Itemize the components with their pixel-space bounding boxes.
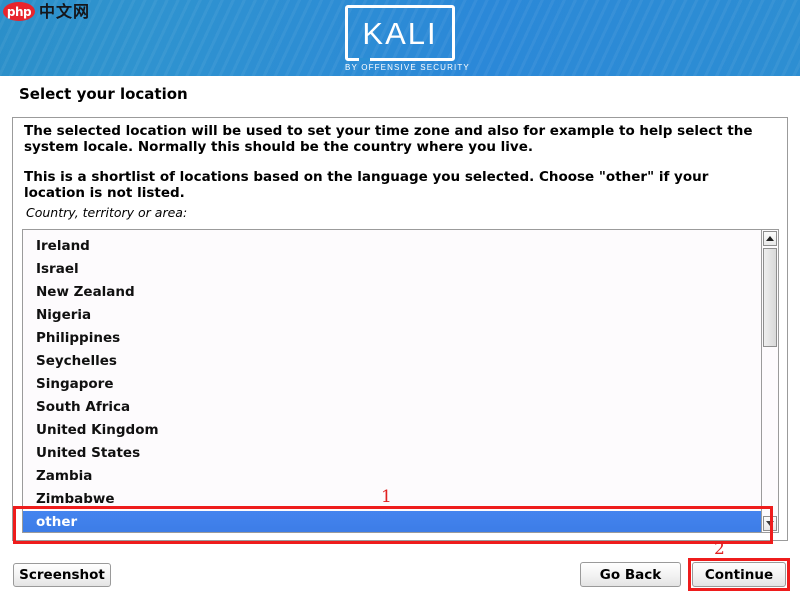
description-paragraph-2: This is a shortlist of locations based o… (24, 170, 774, 201)
kali-logo: KALI BY OFFENSIVE SECURITY (345, 5, 455, 72)
kali-banner: php 中文网 KALI BY OFFENSIVE SECURITY (0, 0, 800, 76)
list-item[interactable]: South Africa (23, 396, 761, 419)
list-item[interactable]: Seychelles (23, 350, 761, 373)
kali-logo-word: KALI (362, 18, 437, 49)
annotation-number-1: 1 (381, 489, 392, 506)
kali-logo-tagline: BY OFFENSIVE SECURITY (345, 63, 455, 72)
list-item[interactable]: Zambia (23, 465, 761, 488)
country-list-scrollbar[interactable] (761, 230, 778, 532)
list-item[interactable]: Philippines (23, 327, 761, 350)
list-item[interactable]: United States (23, 442, 761, 465)
chevron-down-icon (766, 521, 774, 526)
description-paragraph-1: The selected location will be used to se… (24, 124, 774, 155)
kali-logo-box: KALI (345, 5, 455, 61)
list-item[interactable]: Zimbabwe (23, 488, 761, 511)
watermark: php 中文网 (3, 2, 90, 21)
country-list-items[interactable]: IrelandIsraelNew ZealandNigeriaPhilippin… (23, 230, 761, 533)
list-item[interactable]: Nigeria (23, 304, 761, 327)
annotation-number-2: 2 (714, 541, 725, 558)
kali-logo-notch (359, 58, 370, 61)
list-item[interactable]: United Kingdom (23, 419, 761, 442)
list-item[interactable]: Singapore (23, 373, 761, 396)
country-field-label: Country, territory or area: (26, 205, 187, 220)
continue-button[interactable]: Continue (692, 562, 786, 587)
list-item[interactable]: Ireland (23, 235, 761, 258)
list-item[interactable]: other (23, 511, 761, 533)
installer-content-panel: The selected location will be used to se… (12, 117, 788, 541)
watermark-label: 中文网 (39, 4, 90, 20)
screenshot-button[interactable]: Screenshot (13, 563, 111, 587)
country-list[interactable]: IrelandIsraelNew ZealandNigeriaPhilippin… (22, 229, 779, 533)
go-back-button[interactable]: Go Back (580, 562, 681, 587)
page-title: Select your location (19, 85, 188, 103)
chevron-up-icon (766, 236, 774, 241)
list-item[interactable]: Israel (23, 258, 761, 281)
scrollbar-thumb[interactable] (763, 248, 777, 347)
scroll-down-button[interactable] (763, 516, 777, 531)
php-logo-icon: php (3, 2, 35, 21)
description-text: The selected location will be used to se… (24, 124, 774, 201)
list-item[interactable]: New Zealand (23, 281, 761, 304)
scroll-up-button[interactable] (763, 231, 777, 246)
